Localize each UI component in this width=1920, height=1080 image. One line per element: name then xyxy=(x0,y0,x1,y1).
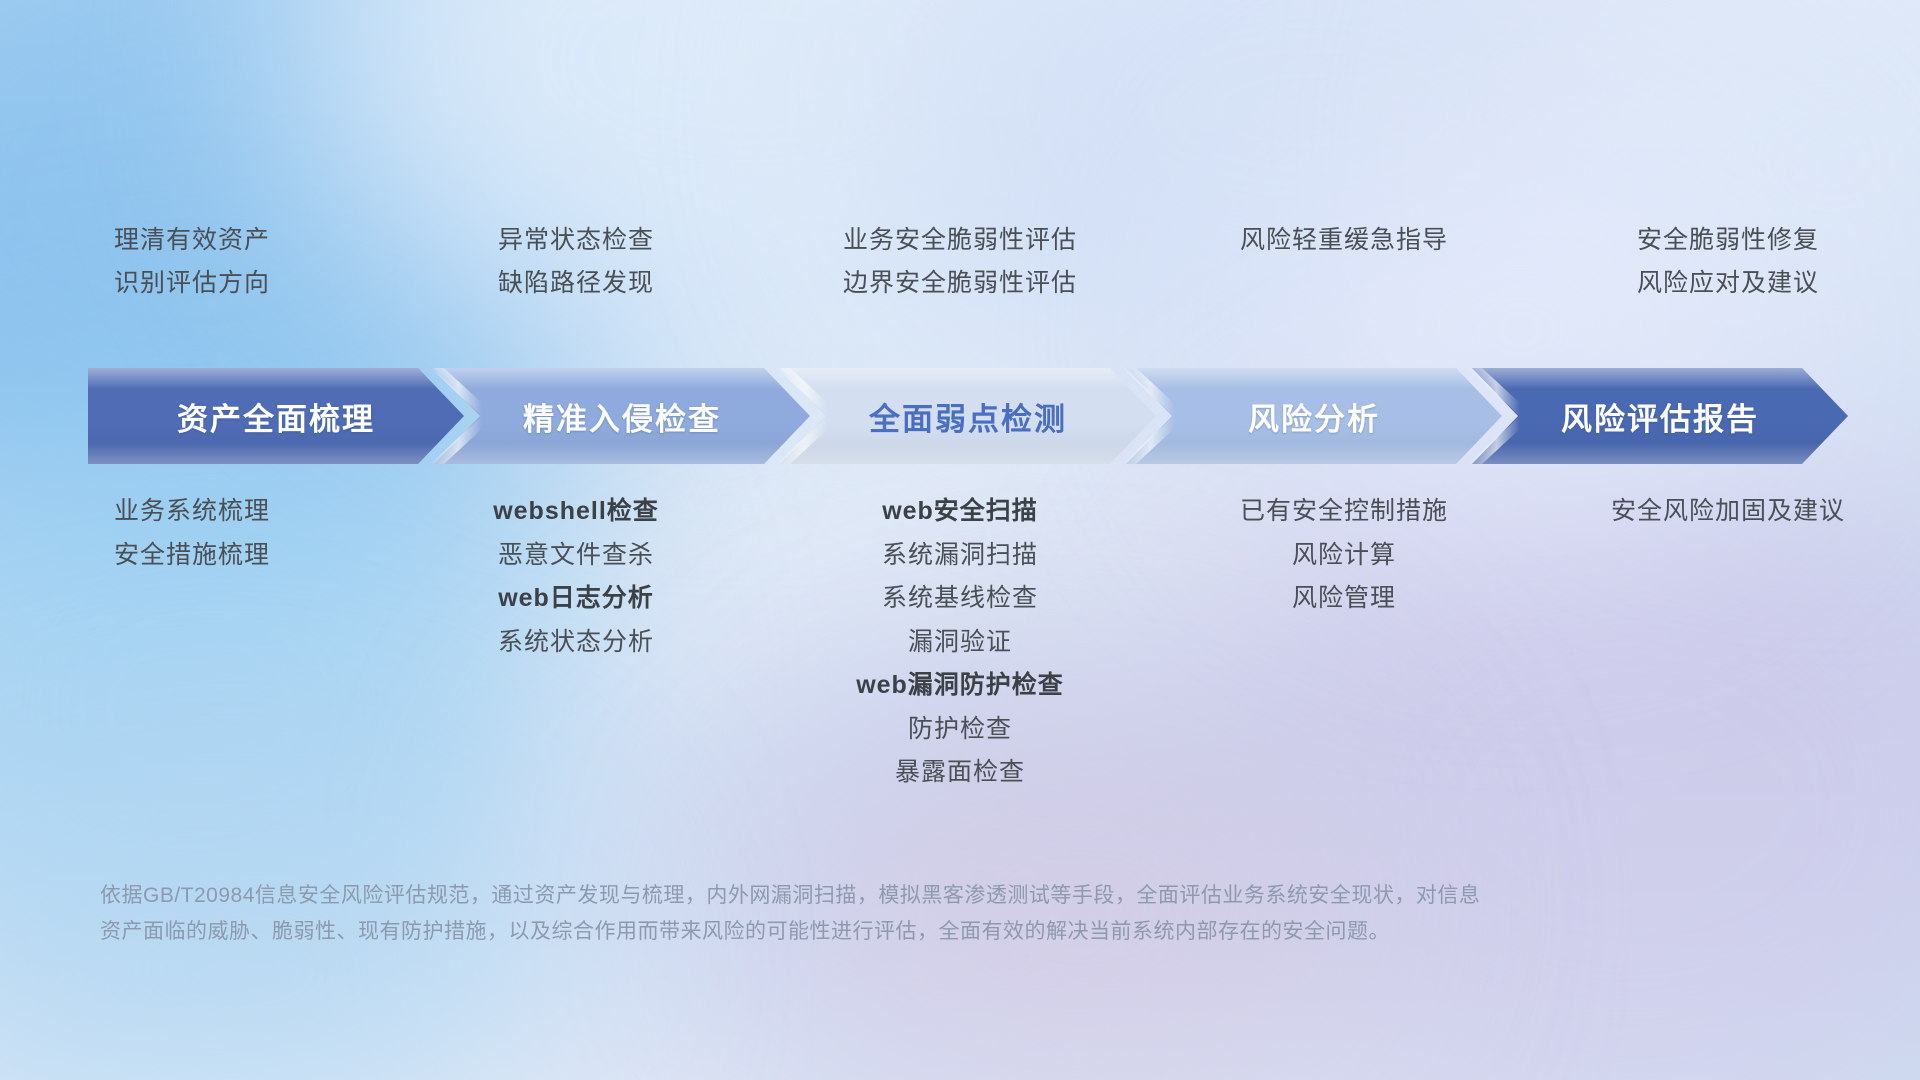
detail-list-item: web安全扫描 xyxy=(882,498,1038,526)
top-caption-item: 业务安全脆弱性评估 xyxy=(843,228,1077,253)
process-chevron-band: 资产全面梳理精准入侵检查全面弱点检测风险分析风险评估报告 xyxy=(88,368,1848,464)
process-stage-5[interactable]: 风险评估报告 xyxy=(1472,368,1848,464)
detail-list-col-1: 业务系统梳理安全措施梳理 xyxy=(0,498,384,569)
detail-list-col-3: web安全扫描系统漏洞扫描系统基线检查漏洞验证web漏洞防护检查防护检查暴露面检… xyxy=(768,498,1152,787)
detail-list-item: 系统基线检查 xyxy=(882,585,1038,613)
process-diagram: 理清有效资产识别评估方向异常状态检查缺陷路径发现业务安全脆弱性评估边界安全脆弱性… xyxy=(0,0,1920,1080)
footer-line-2: 资产面临的威胁、脆弱性、现有防护措施，以及综合作用而带来风险的可能性进行评估，全… xyxy=(100,914,1680,950)
detail-list-item: 业务系统梳理 xyxy=(114,498,270,526)
stage-label: 风险评估报告 xyxy=(1561,394,1759,439)
top-caption-item: 安全脆弱性修复 xyxy=(1637,228,1819,253)
detail-list-item: 安全措施梳理 xyxy=(114,542,270,570)
stage-label: 风险分析 xyxy=(1248,394,1380,439)
process-stage-1[interactable]: 资产全面梳理 xyxy=(88,368,464,464)
process-stage-2[interactable]: 精准入侵检查 xyxy=(434,368,810,464)
detail-list-item: 系统状态分析 xyxy=(498,629,654,657)
top-caption-item: 风险应对及建议 xyxy=(1637,271,1819,296)
top-caption-col-2: 异常状态检查缺陷路径发现 xyxy=(384,228,768,296)
detail-list-item: web日志分析 xyxy=(498,585,654,613)
detail-list-item: 系统漏洞扫描 xyxy=(882,542,1038,570)
stage-label: 精准入侵检查 xyxy=(523,394,721,439)
detail-list-item: 风险管理 xyxy=(1292,585,1396,613)
top-caption-item: 识别评估方向 xyxy=(114,271,270,296)
detail-list-item: 安全风险加固及建议 xyxy=(1611,498,1845,526)
top-caption-col-3: 业务安全脆弱性评估边界安全脆弱性评估 xyxy=(768,228,1152,296)
top-caption-item: 异常状态检查 xyxy=(498,228,654,253)
top-caption-item: 缺陷路径发现 xyxy=(498,271,654,296)
top-caption-col-4: 风险轻重缓急指导 xyxy=(1152,228,1536,296)
top-caption-item: 边界安全脆弱性评估 xyxy=(843,271,1077,296)
top-caption-item: 理清有效资产 xyxy=(114,228,270,253)
detail-list-item: 风险计算 xyxy=(1292,542,1396,570)
detail-list-item: 恶意文件查杀 xyxy=(498,542,654,570)
detail-list-item: web漏洞防护检查 xyxy=(856,672,1064,700)
detail-list-item: webshell检查 xyxy=(493,498,659,526)
detail-list-item: 已有安全控制措施 xyxy=(1240,498,1448,526)
process-stage-3[interactable]: 全面弱点检测 xyxy=(780,368,1156,464)
detail-list-col-4: 已有安全控制措施风险计算风险管理 xyxy=(1152,498,1536,613)
detail-list-col-5: 安全风险加固及建议 xyxy=(1536,498,1920,526)
detail-list-col-2: webshell检查恶意文件查杀web日志分析系统状态分析 xyxy=(384,498,768,656)
stage-label: 全面弱点检测 xyxy=(869,394,1067,439)
detail-list-item: 防护检查 xyxy=(908,716,1012,744)
bottom-detail-lists: 业务系统梳理安全措施梳理webshell检查恶意文件查杀web日志分析系统状态分… xyxy=(0,498,1920,787)
top-captions-row: 理清有效资产识别评估方向异常状态检查缺陷路径发现业务安全脆弱性评估边界安全脆弱性… xyxy=(0,228,1920,296)
process-stage-4[interactable]: 风险分析 xyxy=(1126,368,1502,464)
stage-label: 资产全面梳理 xyxy=(177,394,375,439)
top-caption-item: 风险轻重缓急指导 xyxy=(1240,228,1448,253)
detail-list-item: 暴露面检查 xyxy=(895,759,1025,787)
detail-list-item: 漏洞验证 xyxy=(908,629,1012,657)
top-caption-col-5: 安全脆弱性修复风险应对及建议 xyxy=(1536,228,1920,296)
footer-description: 依据GB/T20984信息安全风险评估规范，通过资产发现与梳理，内外网漏洞扫描，… xyxy=(100,878,1680,950)
top-caption-col-1: 理清有效资产识别评估方向 xyxy=(0,228,384,296)
footer-line-1: 依据GB/T20984信息安全风险评估规范，通过资产发现与梳理，内外网漏洞扫描，… xyxy=(100,878,1680,914)
